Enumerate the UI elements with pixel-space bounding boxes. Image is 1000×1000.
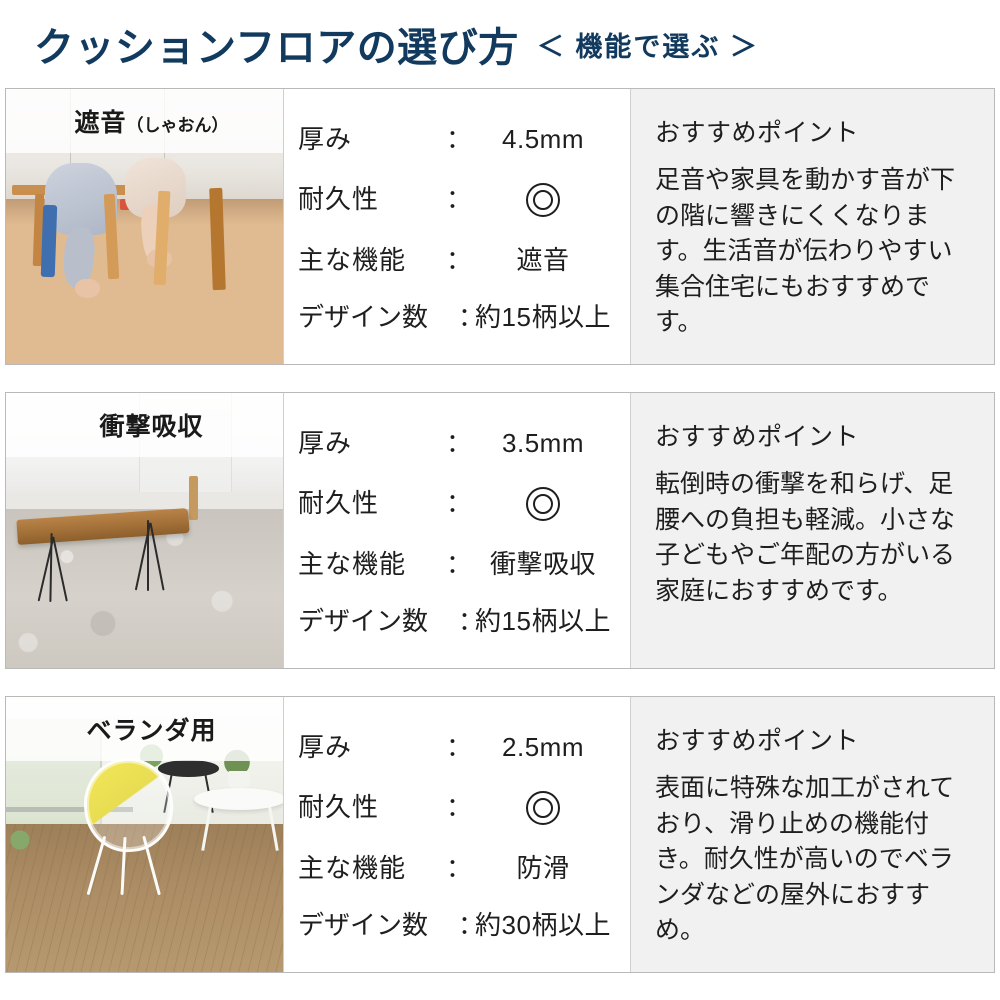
spec-colon: ： [446, 429, 472, 458]
child-foot [75, 279, 100, 298]
page-subtitle: ＜ 機能で選ぶ ＞ [537, 25, 759, 64]
card-photo: 遮音（しゃおん） [6, 89, 283, 364]
recommend-heading: おすすめポイント [655, 113, 972, 149]
spec-row-main-function: 主な機能 ： 衝撃吸収 [298, 550, 614, 579]
spec-colon: ： [458, 303, 472, 332]
spec-colon: ： [446, 793, 472, 822]
spec-colon: ： [446, 185, 472, 214]
spec-colon: ： [446, 854, 472, 883]
spec-colon: ： [446, 489, 472, 518]
spec-value-durability [472, 183, 614, 217]
spec-colon: ： [446, 125, 472, 154]
spec-table: 厚み ： 4.5mm 耐久性 ： 主な機能 ： 遮音 デザイン数 ： 約15柄以… [283, 89, 631, 364]
plant-pot [228, 771, 250, 788]
spec-label: 主な機能 [298, 246, 446, 275]
double-circle-icon [526, 487, 560, 521]
blue-chair-leg [41, 204, 57, 276]
spec-row-design-count: デザイン数 ： 約15柄以上 [298, 303, 614, 332]
spec-row-main-function: 主な機能 ： 遮音 [298, 246, 614, 275]
page-title: クッションフロアの選び方 [34, 15, 519, 73]
spec-label: 厚み [298, 429, 446, 458]
spec-label: デザイン数 [298, 911, 458, 940]
spec-value-thickness: 4.5mm [472, 125, 614, 154]
recommend-heading: おすすめポイント [655, 721, 972, 757]
spec-colon: ： [458, 607, 472, 636]
spec-label: 主な機能 [298, 550, 446, 579]
spec-label: デザイン数 [298, 303, 458, 332]
spec-value-design-count: 約15柄以上 [472, 607, 614, 636]
spec-colon: ： [458, 911, 472, 940]
comparison-card[interactable]: ベランダ用 厚み ： 2.5mm 耐久性 ： 主な機能 ： 防滑 デザイン数 ： [5, 696, 995, 973]
spec-value-durability [472, 487, 614, 521]
spec-value-thickness: 3.5mm [472, 429, 614, 458]
spec-colon: ： [446, 550, 472, 579]
card-photo: 衝撃吸収 [6, 393, 283, 668]
spec-row-durability: 耐久性 ： [298, 183, 614, 217]
spec-row-thickness: 厚み ： 4.5mm [298, 125, 614, 154]
spec-label: 主な機能 [298, 854, 446, 883]
recommend-panel: おすすめポイント 表面に特殊な加工がされており、滑り止めの機能付き。耐久性が高い… [631, 697, 994, 972]
spec-value-main-function: 防滑 [472, 854, 614, 883]
recommend-text: 表面に特殊な加工がされており、滑り止めの機能付き。耐久性が高いのでベランダなどの… [655, 771, 972, 949]
card-title-ruby: （しゃおん） [127, 116, 229, 135]
spec-row-main-function: 主な機能 ： 防滑 [298, 854, 614, 883]
card-title: 遮音（しゃおん） [74, 103, 228, 139]
spec-label: 厚み [298, 733, 446, 762]
spec-row-design-count: デザイン数 ： 約15柄以上 [298, 607, 614, 636]
spec-value-design-count: 約15柄以上 [472, 303, 614, 332]
double-circle-icon [526, 791, 560, 825]
spec-table: 厚み ： 3.5mm 耐久性 ： 主な機能 ： 衝撃吸収 デザイン数 ： 約15… [283, 393, 631, 668]
card-title-banner: 遮音（しゃおん） [6, 89, 283, 153]
plant [6, 826, 34, 854]
recommend-heading: おすすめポイント [655, 417, 972, 453]
spec-table: 厚み ： 2.5mm 耐久性 ： 主な機能 ： 防滑 デザイン数 ： 約30柄以… [283, 697, 631, 972]
spec-value-main-function: 遮音 [472, 246, 614, 275]
comparison-card[interactable]: 遮音（しゃおん） 厚み ： 4.5mm 耐久性 ： 主な機能 ： 遮音 デザイン… [5, 88, 995, 365]
spec-row-thickness: 厚み ： 3.5mm [298, 429, 614, 458]
card-title-banner: ベランダ用 [6, 697, 283, 761]
card-title-banner: 衝撃吸収 [6, 393, 283, 457]
spec-colon: ： [446, 246, 472, 275]
recommend-text: 転倒時の衝撃を和らげ、足腰への負担も軽減。小さな子どもやご年配の方がいる家庭にお… [655, 467, 972, 609]
comparison-card[interactable]: 衝撃吸収 厚み ： 3.5mm 耐久性 ： 主な機能 ： 衝撃吸収 デザイン数 … [5, 392, 995, 669]
bench-leg [147, 520, 149, 592]
card-title: 衝撃吸収 [99, 407, 203, 443]
spec-row-design-count: デザイン数 ： 約30柄以上 [298, 911, 614, 940]
double-circle-icon [526, 183, 560, 217]
recommend-panel: おすすめポイント 転倒時の衝撃を和らげ、足腰への負担も軽減。小さな子どもやご年配… [631, 393, 994, 668]
card-photo: ベランダ用 [6, 697, 283, 972]
card-title: ベランダ用 [86, 711, 216, 747]
spec-label: 厚み [298, 125, 446, 154]
spec-value-design-count: 約30柄以上 [472, 911, 614, 940]
page-header: クッションフロアの選び方 ＜ 機能で選ぶ ＞ [0, 0, 1000, 88]
spec-label: 耐久性 [298, 793, 446, 822]
recommend-text: 足音や家具を動かす音が下の階に響きにくくなります。生活音が伝わりやすい集合住宅に… [655, 163, 972, 341]
spec-row-thickness: 厚み ： 2.5mm [298, 733, 614, 762]
spec-value-thickness: 2.5mm [472, 733, 614, 762]
black-side-table [158, 760, 219, 777]
spec-label: 耐久性 [298, 489, 446, 518]
stool-leg [189, 476, 198, 520]
spec-row-durability: 耐久性 ： [298, 487, 614, 521]
spec-value-durability [472, 791, 614, 825]
spec-value-main-function: 衝撃吸収 [472, 550, 614, 579]
spec-row-durability: 耐久性 ： [298, 791, 614, 825]
recommend-panel: おすすめポイント 足音や家具を動かす音が下の階に響きにくくなります。生活音が伝わ… [631, 89, 994, 364]
comparison-card-list: 遮音（しゃおん） 厚み ： 4.5mm 耐久性 ： 主な機能 ： 遮音 デザイン… [0, 88, 1000, 973]
spec-label: 耐久性 [298, 185, 446, 214]
spec-label: デザイン数 [298, 607, 458, 636]
spec-colon: ： [446, 733, 472, 762]
